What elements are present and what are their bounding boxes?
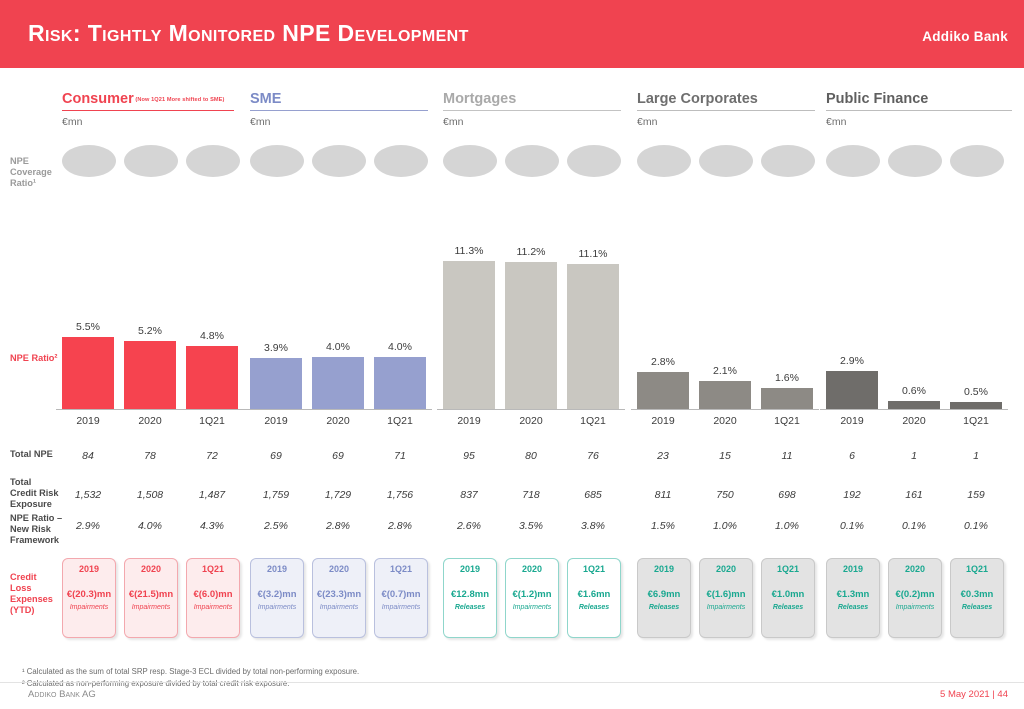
axis-baseline — [820, 409, 1008, 410]
credit-loss-year: 2020 — [313, 564, 365, 574]
credit-loss-kind: Releases — [762, 604, 814, 611]
column-unit-sme: €mn — [250, 116, 270, 128]
credit-loss-year: 2020 — [125, 564, 177, 574]
credit-loss-kind: Releases — [827, 604, 879, 611]
npe-coverage-ellipse — [374, 145, 428, 177]
cell-npe-ratio-new-framework: 0.1% — [947, 520, 1005, 532]
npe-coverage-ellipse — [888, 145, 942, 177]
column-rule-sme — [250, 110, 428, 111]
credit-loss-kind: Impairments — [889, 604, 941, 611]
cell-total-npe: 6 — [823, 450, 881, 462]
cell-npe-ratio-new-framework: 3.5% — [502, 520, 560, 532]
cell-total-credit-risk-exposure: 1,487 — [183, 489, 241, 501]
cell-npe-ratio-new-framework: 4.0% — [121, 520, 179, 532]
cell-total-npe: 84 — [59, 450, 117, 462]
bar-large-corporates-1Q21 — [761, 388, 813, 409]
cell-total-npe: 71 — [371, 450, 429, 462]
credit-loss-year: 2020 — [889, 564, 941, 574]
credit-loss-box-public-finance-2019: 2019€1.3mnReleases — [826, 558, 880, 638]
footer-right: 5 May 2021 | 44 — [940, 689, 1008, 700]
npe-coverage-ellipse — [950, 145, 1004, 177]
npe-coverage-ellipse — [826, 145, 880, 177]
credit-loss-year: 2020 — [700, 564, 752, 574]
axis-baseline — [56, 409, 244, 410]
credit-loss-amount: €(21.5)mn — [125, 589, 177, 600]
axis-year-label: 2020 — [124, 415, 176, 427]
cell-total-npe: 1 — [947, 450, 1005, 462]
cell-total-npe: 11 — [758, 450, 816, 462]
credit-loss-box-mortgages-2019: 2019€12.8mnReleases — [443, 558, 497, 638]
credit-loss-kind: Impairments — [375, 604, 427, 611]
credit-loss-amount: €6.9mn — [638, 589, 690, 600]
brand-logo: Addiko Bank — [922, 29, 1008, 44]
credit-loss-amount: €(23.3)mn — [313, 589, 365, 600]
axis-year-label: 2020 — [699, 415, 751, 427]
cell-total-credit-risk-exposure: 1,759 — [247, 489, 305, 501]
bar-value-label: 4.0% — [374, 341, 426, 353]
credit-loss-year: 2019 — [827, 564, 879, 574]
credit-loss-year: 2019 — [444, 564, 496, 574]
bar-value-label: 11.1% — [567, 248, 619, 260]
credit-loss-kind: Releases — [638, 604, 690, 611]
credit-loss-amount: €1.3mn — [827, 589, 879, 600]
column-title-consumer: Consumer (Now 1Q21 More shifted to SME) — [62, 91, 224, 107]
page-title: Risk: Tightly Monitored NPE Development — [28, 20, 469, 47]
bar-mortgages-1Q21 — [567, 264, 619, 409]
bar-mortgages-2020 — [505, 262, 557, 409]
credit-loss-kind: Impairments — [700, 604, 752, 611]
credit-loss-box-public-finance-2020: 2020€(0.2)mnImpairments — [888, 558, 942, 638]
axis-year-label: 1Q21 — [374, 415, 426, 427]
npe-coverage-ellipse — [567, 145, 621, 177]
axis-baseline — [437, 409, 625, 410]
bar-large-corporates-2019 — [637, 372, 689, 409]
cell-npe-ratio-new-framework: 0.1% — [823, 520, 881, 532]
footnote-1: ¹ Calculated as the sum of total SRP res… — [22, 666, 359, 677]
credit-loss-kind: Impairments — [251, 604, 303, 611]
footer-left: Addiko Bank AG — [28, 689, 96, 700]
credit-loss-box-consumer-2020: 2020€(21.5)mnImpairments — [124, 558, 178, 638]
cell-npe-ratio-new-framework: 2.9% — [59, 520, 117, 532]
cell-total-npe: 15 — [696, 450, 754, 462]
column-title-note: (Now 1Q21 More shifted to SME) — [134, 97, 225, 103]
bar-consumer-1Q21 — [186, 346, 238, 409]
axis-year-label: 2019 — [637, 415, 689, 427]
column-title-large-corporates: Large Corporates — [637, 91, 758, 107]
credit-loss-box-large-corporates-1Q21: 1Q21€1.0mnReleases — [761, 558, 815, 638]
bar-large-corporates-2020 — [699, 381, 751, 409]
axis-baseline — [244, 409, 432, 410]
npe-coverage-ellipse — [186, 145, 240, 177]
npe-coverage-ellipse — [761, 145, 815, 177]
column-rule-consumer — [62, 110, 234, 111]
credit-loss-year: 1Q21 — [187, 564, 239, 574]
bar-value-label: 2.8% — [637, 356, 689, 368]
cell-npe-ratio-new-framework: 4.3% — [183, 520, 241, 532]
column-title-sme: SME — [250, 91, 281, 107]
credit-loss-kind: Impairments — [125, 604, 177, 611]
column-title-text: SME — [250, 91, 281, 107]
row-label-credit-loss-expenses: Credit Loss Expenses (YTD) — [10, 572, 70, 616]
cell-total-credit-risk-exposure: 698 — [758, 489, 816, 501]
npe-coverage-ellipse — [699, 145, 753, 177]
credit-loss-year: 1Q21 — [568, 564, 620, 574]
axis-year-label: 1Q21 — [567, 415, 619, 427]
credit-loss-year: 1Q21 — [951, 564, 1003, 574]
bar-value-label: 5.5% — [62, 321, 114, 333]
cell-total-npe: 23 — [634, 450, 692, 462]
bar-consumer-2019 — [62, 337, 114, 409]
bar-value-label: 2.9% — [826, 355, 878, 367]
credit-loss-kind: Releases — [568, 604, 620, 611]
bar-value-label: 0.6% — [888, 385, 940, 397]
cell-total-credit-risk-exposure: 718 — [502, 489, 560, 501]
cell-total-credit-risk-exposure: 1,729 — [309, 489, 367, 501]
credit-loss-amount: €1.0mn — [762, 589, 814, 600]
credit-loss-kind: Impairments — [187, 604, 239, 611]
axis-year-label: 1Q21 — [950, 415, 1002, 427]
cell-total-npe: 76 — [564, 450, 622, 462]
credit-loss-box-consumer-1Q21: 1Q21€(6.0)mnImpairments — [186, 558, 240, 638]
cell-total-credit-risk-exposure: 159 — [947, 489, 1005, 501]
axis-year-label: 2019 — [62, 415, 114, 427]
column-unit-public-finance: €mn — [826, 116, 846, 128]
bar-consumer-2020 — [124, 341, 176, 409]
axis-baseline — [631, 409, 819, 410]
column-title-text: Consumer — [62, 91, 134, 107]
bar-mortgages-2019 — [443, 261, 495, 409]
footer-divider — [0, 682, 1024, 683]
cell-npe-ratio-new-framework: 1.0% — [758, 520, 816, 532]
credit-loss-kind: Impairments — [63, 604, 115, 611]
column-title-public-finance: Public Finance — [826, 91, 928, 107]
row-label-npe-coverage: NPE Coverage Ratio¹ — [10, 156, 70, 189]
npe-coverage-ellipse — [505, 145, 559, 177]
cell-total-credit-risk-exposure: 192 — [823, 489, 881, 501]
npe-coverage-ellipse — [124, 145, 178, 177]
footnote-2: ² Calculated as non-performing exposure … — [22, 678, 289, 689]
axis-year-label: 2020 — [505, 415, 557, 427]
column-title-text: Large Corporates — [637, 91, 758, 107]
cell-npe-ratio-new-framework: 2.6% — [440, 520, 498, 532]
cell-total-credit-risk-exposure: 1,508 — [121, 489, 179, 501]
credit-loss-year: 2019 — [63, 564, 115, 574]
bar-value-label: 3.9% — [250, 342, 302, 354]
credit-loss-amount: €(1.2)mn — [506, 589, 558, 600]
npe-coverage-ellipse — [62, 145, 116, 177]
credit-loss-amount: €(3.2)mn — [251, 589, 303, 600]
bar-sme-1Q21 — [374, 357, 426, 409]
cell-total-credit-risk-exposure: 1,532 — [59, 489, 117, 501]
credit-loss-box-sme-2019: 2019€(3.2)mnImpairments — [250, 558, 304, 638]
credit-loss-amount: €(6.0)mn — [187, 589, 239, 600]
credit-loss-kind: Releases — [444, 604, 496, 611]
cell-total-credit-risk-exposure: 837 — [440, 489, 498, 501]
credit-loss-box-mortgages-1Q21: 1Q21€1.6mnReleases — [567, 558, 621, 638]
cell-npe-ratio-new-framework: 0.1% — [885, 520, 943, 532]
bar-sme-2019 — [250, 358, 302, 409]
cell-total-npe: 69 — [309, 450, 367, 462]
cell-total-credit-risk-exposure: 750 — [696, 489, 754, 501]
column-rule-mortgages — [443, 110, 621, 111]
column-unit-large-corporates: €mn — [637, 116, 657, 128]
credit-loss-box-large-corporates-2019: 2019€6.9mnReleases — [637, 558, 691, 638]
axis-year-label: 2019 — [826, 415, 878, 427]
cell-npe-ratio-new-framework: 3.8% — [564, 520, 622, 532]
cell-total-credit-risk-exposure: 1,756 — [371, 489, 429, 501]
cell-total-npe: 80 — [502, 450, 560, 462]
bar-value-label: 4.8% — [186, 330, 238, 342]
bar-value-label: 1.6% — [761, 372, 813, 384]
bar-value-label: 4.0% — [312, 341, 364, 353]
column-unit-mortgages: €mn — [443, 116, 463, 128]
cell-total-credit-risk-exposure: 811 — [634, 489, 692, 501]
credit-loss-amount: €(0.7)mn — [375, 589, 427, 600]
npe-coverage-ellipse — [443, 145, 497, 177]
credit-loss-amount: €1.6mn — [568, 589, 620, 600]
bar-value-label: 2.1% — [699, 365, 751, 377]
cell-total-npe: 95 — [440, 450, 498, 462]
cell-npe-ratio-new-framework: 2.5% — [247, 520, 305, 532]
cell-total-credit-risk-exposure: 161 — [885, 489, 943, 501]
cell-total-credit-risk-exposure: 685 — [564, 489, 622, 501]
axis-year-label: 1Q21 — [186, 415, 238, 427]
bar-value-label: 11.2% — [505, 246, 557, 258]
cell-npe-ratio-new-framework: 2.8% — [309, 520, 367, 532]
cell-total-npe: 72 — [183, 450, 241, 462]
cell-total-npe: 69 — [247, 450, 305, 462]
column-title-mortgages: Mortgages — [443, 91, 516, 107]
npe-coverage-ellipse — [637, 145, 691, 177]
credit-loss-amount: €(1.6)mn — [700, 589, 752, 600]
credit-loss-year: 2020 — [506, 564, 558, 574]
column-unit-consumer: €mn — [62, 116, 82, 128]
page-header: Risk: Tightly Monitored NPE Development … — [0, 0, 1024, 68]
cell-npe-ratio-new-framework: 1.5% — [634, 520, 692, 532]
credit-loss-box-large-corporates-2020: 2020€(1.6)mnImpairments — [699, 558, 753, 638]
credit-loss-amount: €(0.2)mn — [889, 589, 941, 600]
column-rule-public-finance — [826, 110, 1012, 111]
axis-year-label: 2020 — [312, 415, 364, 427]
bar-public-finance-2019 — [826, 371, 878, 409]
credit-loss-amount: €0.3mn — [951, 589, 1003, 600]
axis-year-label: 2020 — [888, 415, 940, 427]
credit-loss-box-sme-2020: 2020€(23.3)mnImpairments — [312, 558, 366, 638]
axis-year-label: 1Q21 — [761, 415, 813, 427]
credit-loss-box-sme-1Q21: 1Q21€(0.7)mnImpairments — [374, 558, 428, 638]
axis-year-label: 2019 — [250, 415, 302, 427]
credit-loss-amount: €12.8mn — [444, 589, 496, 600]
cell-total-npe: 78 — [121, 450, 179, 462]
bar-value-label: 0.5% — [950, 386, 1002, 398]
bar-value-label: 11.3% — [443, 245, 495, 257]
axis-year-label: 2019 — [443, 415, 495, 427]
credit-loss-kind: Impairments — [506, 604, 558, 611]
credit-loss-year: 1Q21 — [762, 564, 814, 574]
credit-loss-kind: Releases — [951, 604, 1003, 611]
credit-loss-box-public-finance-1Q21: 1Q21€0.3mnReleases — [950, 558, 1004, 638]
credit-loss-box-consumer-2019: 2019€(20.3)mnImpairments — [62, 558, 116, 638]
credit-loss-year: 1Q21 — [375, 564, 427, 574]
credit-loss-amount: €(20.3)mn — [63, 589, 115, 600]
cell-npe-ratio-new-framework: 1.0% — [696, 520, 754, 532]
bar-sme-2020 — [312, 357, 364, 409]
npe-coverage-ellipse — [250, 145, 304, 177]
column-title-text: Public Finance — [826, 91, 928, 107]
column-rule-large-corporates — [637, 110, 815, 111]
bar-public-finance-2020 — [888, 401, 940, 409]
column-title-text: Mortgages — [443, 91, 516, 107]
cell-npe-ratio-new-framework: 2.8% — [371, 520, 429, 532]
credit-loss-year: 2019 — [638, 564, 690, 574]
bar-value-label: 5.2% — [124, 325, 176, 337]
credit-loss-year: 2019 — [251, 564, 303, 574]
credit-loss-kind: Impairments — [313, 604, 365, 611]
credit-loss-box-mortgages-2020: 2020€(1.2)mnImpairments — [505, 558, 559, 638]
npe-coverage-ellipse — [312, 145, 366, 177]
cell-total-npe: 1 — [885, 450, 943, 462]
bar-public-finance-1Q21 — [950, 402, 1002, 409]
